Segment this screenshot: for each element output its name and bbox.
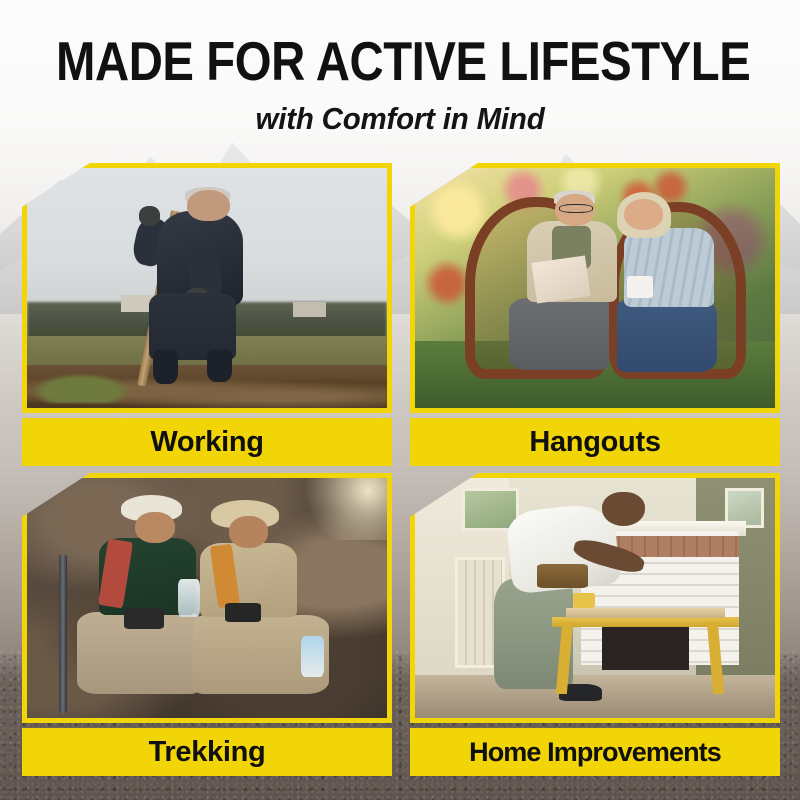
page-title: MADE FOR ACTIVE LIFESTYLE	[56, 0, 744, 89]
card-photo-home-improvements	[410, 473, 780, 723]
card-photo-working	[22, 163, 392, 413]
poster-canvas: MADE FOR ACTIVE LIFESTYLE with Comfort i…	[0, 0, 800, 800]
photo-scene-working	[27, 168, 387, 408]
photo-scene-home-improvements	[415, 478, 775, 718]
card-photo-hangouts	[410, 163, 780, 413]
card-photo-trekking	[22, 473, 392, 723]
poster-header: MADE FOR ACTIVE LIFESTYLE with Comfort i…	[0, 0, 800, 134]
card-label-text: Working	[150, 428, 263, 457]
photo-scene-hangouts	[415, 168, 775, 408]
card-label-hangouts: Hangouts	[410, 418, 780, 466]
card-label-text: Home Improvements	[469, 739, 721, 766]
photo-scene-trekking	[27, 478, 387, 718]
card-label-working: Working	[22, 418, 392, 466]
page-subtitle: with Comfort in Mind	[20, 89, 780, 134]
card-label-trekking: Trekking	[22, 728, 392, 776]
card-label-home-improvements: Home Improvements	[410, 728, 780, 776]
card-label-text: Trekking	[149, 738, 266, 767]
card-label-text: Hangouts	[529, 428, 660, 457]
